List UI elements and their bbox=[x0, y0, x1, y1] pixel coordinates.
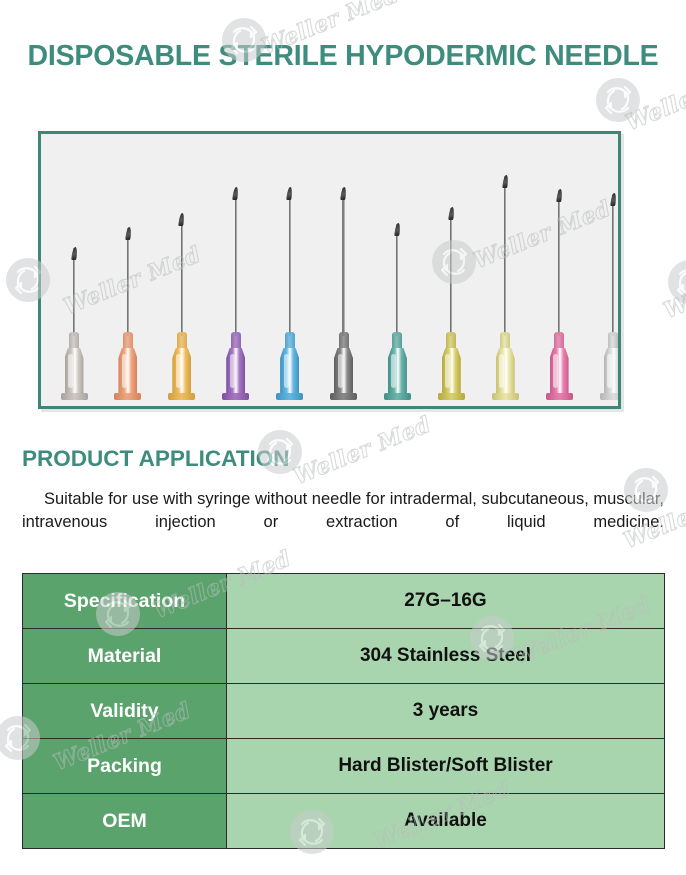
spec-value-cell: 304 Stainless Steel bbox=[227, 629, 665, 684]
product-image-frame bbox=[38, 131, 621, 409]
hub-gloss-highlight bbox=[122, 354, 127, 388]
needle-shaft bbox=[289, 188, 291, 336]
needle-hub bbox=[542, 332, 576, 400]
hub-gloss-highlight bbox=[338, 354, 343, 388]
hub-flange bbox=[438, 393, 465, 400]
needle-shaft bbox=[127, 228, 129, 336]
spec-label-cell: Packing bbox=[23, 739, 227, 794]
needle-bevel-tip bbox=[71, 247, 77, 260]
needle-hub bbox=[57, 332, 91, 400]
hub-flange bbox=[330, 393, 357, 400]
needle-bevel-tip bbox=[502, 175, 508, 188]
hub-gloss-highlight bbox=[499, 354, 504, 388]
table-row: Validity3 years bbox=[23, 684, 665, 739]
needle-hub bbox=[111, 332, 145, 400]
needle-bevel-tip bbox=[179, 213, 185, 226]
needle-hub bbox=[488, 332, 522, 400]
spec-value-cell: 3 years bbox=[227, 684, 665, 739]
weller-med-leaf-logo bbox=[668, 260, 686, 304]
hub-gloss-highlight bbox=[284, 354, 289, 388]
hub-flange bbox=[546, 393, 573, 400]
hub-flange bbox=[276, 393, 303, 400]
needle-hub bbox=[596, 332, 621, 400]
section-heading-product-application: PRODUCT APPLICATION bbox=[22, 446, 290, 472]
hub-flange bbox=[222, 393, 249, 400]
hub-flange bbox=[168, 393, 195, 400]
needle-bevel-tip bbox=[232, 187, 238, 200]
specification-table: Specification27G–16GMaterial304 Stainles… bbox=[22, 573, 665, 849]
needle-row bbox=[41, 134, 618, 406]
spec-label-cell: Validity bbox=[23, 684, 227, 739]
hub-body bbox=[280, 348, 299, 394]
hub-flange bbox=[114, 393, 141, 400]
hub-flange bbox=[384, 393, 411, 400]
needle-bevel-tip bbox=[556, 189, 562, 202]
needle-bevel-tip bbox=[448, 207, 454, 220]
spec-value-cell: Hard Blister/Soft Blister bbox=[227, 739, 665, 794]
needle-bevel-tip bbox=[340, 187, 346, 200]
hub-gloss-highlight bbox=[230, 354, 235, 388]
needle-hub bbox=[219, 332, 253, 400]
needle-shaft bbox=[235, 188, 237, 336]
needle-bevel-tip bbox=[610, 193, 616, 206]
needle-shaft bbox=[342, 188, 344, 336]
needle-shaft bbox=[558, 190, 560, 336]
needle-hub bbox=[273, 332, 307, 400]
page-title: DISPOSABLE STERILE HYPODERMIC NEEDLE bbox=[0, 40, 686, 73]
needle-shaft bbox=[396, 224, 398, 336]
needle-shaft bbox=[504, 176, 506, 336]
hub-gloss-highlight bbox=[607, 354, 612, 388]
hub-gloss-highlight bbox=[391, 354, 396, 388]
table-row: PackingHard Blister/Soft Blister bbox=[23, 739, 665, 794]
spec-value-cell: Available bbox=[227, 794, 665, 849]
spec-label-cell: OEM bbox=[23, 794, 227, 849]
hub-flange bbox=[492, 393, 519, 400]
hub-gloss-highlight bbox=[68, 354, 73, 388]
hub-flange bbox=[600, 393, 622, 400]
needle-hub bbox=[327, 332, 361, 400]
needle-bevel-tip bbox=[125, 227, 131, 240]
watermark-text: Weller Med bbox=[660, 245, 686, 324]
product-application-description: Suitable for use with syringe without ne… bbox=[22, 488, 664, 557]
hub-gloss-highlight bbox=[553, 354, 558, 388]
needle-shaft bbox=[181, 214, 183, 336]
needle-hub bbox=[380, 332, 414, 400]
hub-gloss-highlight bbox=[445, 354, 450, 388]
weller-med-leaf-logo bbox=[596, 78, 640, 122]
needle-bevel-tip bbox=[286, 187, 292, 200]
hub-flange bbox=[61, 393, 88, 400]
hub-gloss-highlight bbox=[176, 354, 181, 388]
needle-shaft bbox=[73, 248, 75, 336]
needle-bevel-tip bbox=[394, 223, 400, 236]
needle-hub bbox=[434, 332, 468, 400]
table-row: Material304 Stainless Steel bbox=[23, 629, 665, 684]
table-row: Specification27G–16G bbox=[23, 574, 665, 629]
needle-hub bbox=[165, 332, 199, 400]
spec-label-cell: Specification bbox=[23, 574, 227, 629]
needle-shaft bbox=[612, 194, 614, 336]
table-row: OEMAvailable bbox=[23, 794, 665, 849]
hub-body bbox=[334, 348, 353, 394]
needle-shaft bbox=[450, 208, 452, 336]
spec-value-cell: 27G–16G bbox=[227, 574, 665, 629]
spec-label-cell: Material bbox=[23, 629, 227, 684]
watermark-text: Weller Med bbox=[290, 411, 435, 490]
